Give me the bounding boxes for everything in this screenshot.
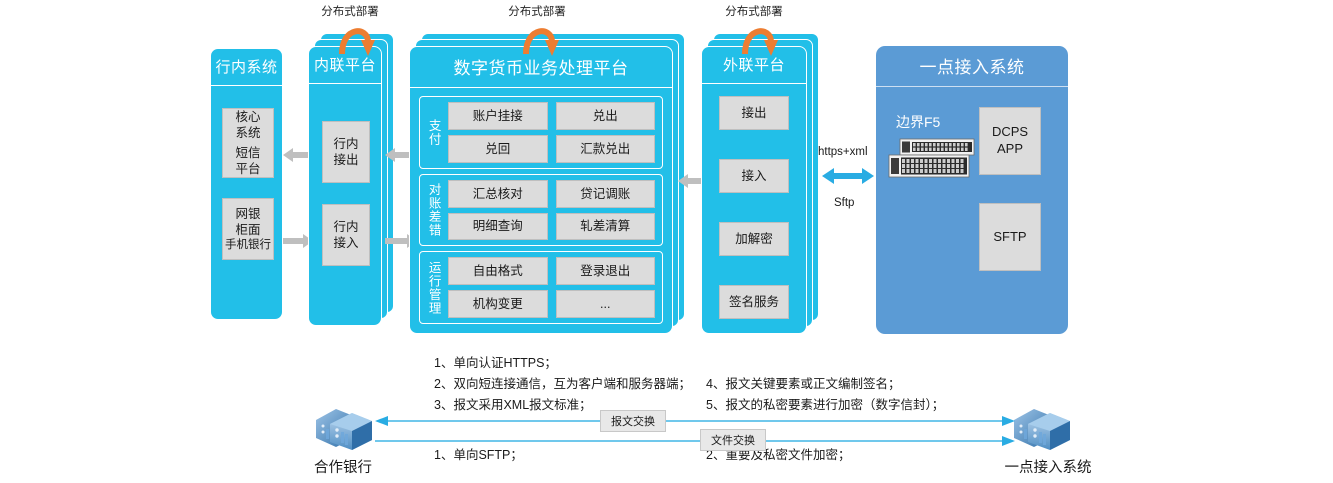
panel-intra-bank-title: 行内系统 bbox=[211, 49, 282, 86]
arrow-external-access-bidirectional bbox=[822, 167, 874, 185]
cell-account-link[interactable]: 账户挂接 bbox=[448, 102, 548, 130]
panel-dcep-body: 支付 账户挂接 兑出 兑回 汇款兑出 对账差错 汇总核对 贷记调账 明细查询 轧… bbox=[410, 88, 672, 333]
box-intrabank-outbound-line1: 行内 bbox=[333, 136, 358, 152]
label-https-xml: https+xml bbox=[818, 146, 868, 158]
box-dcps-app-line2: APP bbox=[997, 141, 1023, 158]
group-reconciliation-label: 对账差错 bbox=[420, 175, 446, 246]
box-intrabank-outbound-line2: 接出 bbox=[333, 152, 358, 168]
cell-org-change[interactable]: 机构变更 bbox=[448, 290, 548, 318]
panel-access-system-body: 边界F5 bbox=[876, 87, 1068, 334]
group-operations-cells: 自由格式 登录退出 机构变更 ... bbox=[446, 252, 662, 323]
loop-arrow-dcep bbox=[521, 18, 557, 56]
panel-external-body: 接出 接入 加解密 签名服务 bbox=[702, 84, 806, 333]
cell-login-logout[interactable]: 登录退出 bbox=[556, 257, 656, 285]
box-intrabank-outbound[interactable]: 行内 接出 bbox=[322, 121, 370, 183]
note-message-3: 3、报文采用XML报文标准； bbox=[434, 396, 592, 415]
box-external-inbound[interactable]: 接入 bbox=[719, 159, 789, 193]
box-core-system[interactable]: 核心 系统 短信 平台 bbox=[222, 108, 274, 178]
tag-message-exchange: 报文交换 bbox=[600, 410, 666, 432]
panel-intra-bank-system[interactable]: 行内系统 核心 系统 短信 平台 网银 柜面 手机银行 bbox=[210, 48, 283, 320]
box-core-system-line2: 系统 bbox=[235, 125, 260, 141]
box-core-system-line1: 核心 bbox=[235, 109, 260, 125]
group-payment: 支付 账户挂接 兑出 兑回 汇款兑出 bbox=[419, 96, 663, 169]
panel-dcep-platform[interactable]: 数字货币业务处理平台 支付 账户挂接 兑出 兑回 汇款兑出 对账差错 汇总核对 … bbox=[409, 46, 673, 334]
cell-summary-check[interactable]: 汇总核对 bbox=[448, 180, 548, 208]
loop-arrow-intranet bbox=[337, 18, 373, 56]
distributed-label-intranet: 分布式部署 bbox=[310, 3, 390, 19]
panel-access-system[interactable]: 一点接入系统 边界F5 bbox=[876, 46, 1068, 334]
box-ebank-line3: 手机银行 bbox=[225, 238, 271, 253]
label-access-system-endpoint: 一点接入系统 bbox=[993, 456, 1103, 477]
cell-exchange-out[interactable]: 兑出 bbox=[556, 102, 656, 130]
group-operations-label: 运行管理 bbox=[420, 252, 446, 323]
flow-lines bbox=[375, 414, 1015, 444]
panel-access-system-title: 一点接入系统 bbox=[876, 46, 1068, 87]
box-intrabank-inbound[interactable]: 行内 接入 bbox=[322, 204, 370, 266]
box-encrypt-decrypt[interactable]: 加解密 bbox=[719, 222, 789, 256]
cell-credit-adjust[interactable]: 贷记调账 bbox=[556, 180, 656, 208]
box-ebank-line2: 柜面 bbox=[235, 222, 260, 238]
note-message-2: 2、双向短连接通信，互为客户端和服务器端； bbox=[434, 375, 691, 394]
distributed-label-dcep: 分布式部署 bbox=[497, 3, 577, 19]
box-sftp[interactable]: SFTP bbox=[979, 203, 1041, 271]
box-intrabank-inbound-line1: 行内 bbox=[333, 219, 358, 235]
note-message-1: 1、单向认证HTTPS； bbox=[434, 354, 557, 373]
box-dcps-app[interactable]: DCPS APP bbox=[979, 107, 1041, 175]
tag-file-exchange: 文件交换 bbox=[700, 429, 766, 451]
box-dcps-app-line1: DCPS bbox=[992, 124, 1028, 141]
box-core-system-line4: 平台 bbox=[235, 161, 260, 177]
group-reconciliation-cells: 汇总核对 贷记调账 明细查询 轧差清算 bbox=[446, 175, 662, 246]
group-reconciliation: 对账差错 汇总核对 贷记调账 明细查询 轧差清算 bbox=[419, 174, 663, 247]
server-icon-access-system bbox=[1008, 404, 1074, 452]
cell-free-format[interactable]: 自由格式 bbox=[448, 257, 548, 285]
box-intrabank-inbound-line2: 接入 bbox=[333, 235, 358, 251]
note-message-4: 4、报文关键要素或正文编制签名； bbox=[706, 375, 900, 394]
panel-intra-bank-body: 核心 系统 短信 平台 网银 柜面 手机银行 bbox=[211, 86, 282, 319]
box-ebank-counter-mobile[interactable]: 网银 柜面 手机银行 bbox=[222, 198, 274, 260]
cell-netting-settlement[interactable]: 轧差清算 bbox=[556, 213, 656, 241]
cell-detail-query[interactable]: 明细查询 bbox=[448, 213, 548, 241]
distributed-label-external: 分布式部署 bbox=[714, 3, 794, 19]
label-sftp-link: Sftp bbox=[834, 197, 854, 209]
cell-exchange-back[interactable]: 兑回 bbox=[448, 135, 548, 163]
f5-switch-icon bbox=[886, 137, 978, 181]
group-payment-cells: 账户挂接 兑出 兑回 汇款兑出 bbox=[446, 97, 662, 168]
note-file-1: 1、单向SFTP； bbox=[434, 446, 523, 465]
cell-more[interactable]: ... bbox=[556, 290, 656, 318]
group-payment-label: 支付 bbox=[420, 97, 446, 168]
label-partner-bank: 合作银行 bbox=[293, 456, 393, 477]
box-signature-service[interactable]: 签名服务 bbox=[719, 285, 789, 319]
group-operations: 运行管理 自由格式 登录退出 机构变更 ... bbox=[419, 251, 663, 324]
panel-intranet-body: 行内 接出 行内 接入 bbox=[309, 84, 381, 325]
panel-intranet-platform[interactable]: 内联平台 行内 接出 行内 接入 bbox=[308, 46, 382, 326]
label-border-f5: 边界F5 bbox=[896, 112, 940, 132]
loop-arrow-external bbox=[740, 18, 776, 56]
box-external-outbound[interactable]: 接出 bbox=[719, 96, 789, 130]
panel-external-platform[interactable]: 外联平台 接出 接入 加解密 签名服务 bbox=[701, 46, 807, 334]
note-message-5: 5、报文的私密要素进行加密（数字信封）； bbox=[706, 396, 944, 415]
box-ebank-line1: 网银 bbox=[235, 206, 260, 222]
box-core-system-line3: 短信 bbox=[235, 145, 260, 161]
server-icon-partner-bank bbox=[310, 404, 376, 452]
cell-remittance-out[interactable]: 汇款兑出 bbox=[556, 135, 656, 163]
